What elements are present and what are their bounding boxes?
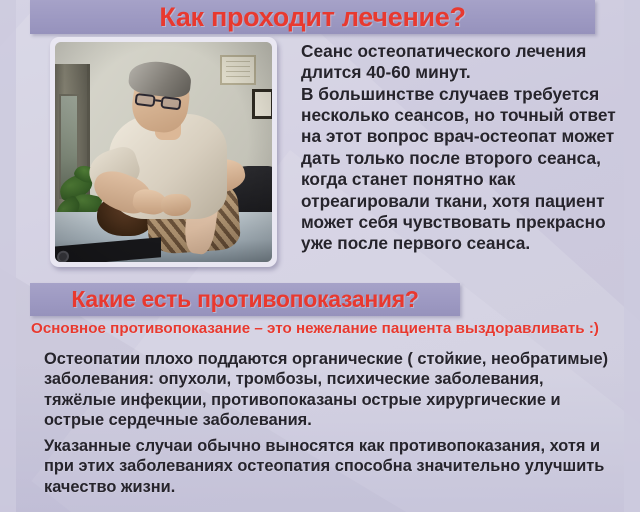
- infographic-poster: Как проходит лечение?: [0, 0, 640, 512]
- contraindications-subtitle: Основное противопоказание – это нежелани…: [31, 320, 631, 337]
- photo-vignette: [55, 42, 272, 262]
- heading-banner-contraindications: Какие есть противопоказания?: [30, 283, 460, 316]
- contraindications-paragraph-1: Остеопатии плохо поддаются органические …: [44, 349, 632, 430]
- heading-treatment-text: Как проходит лечение?: [159, 2, 465, 33]
- heading-banner-treatment: Как проходит лечение?: [30, 0, 595, 34]
- contraindications-paragraph-2: Указанные случаи обычно выносятся как пр…: [44, 436, 632, 497]
- treatment-paragraph: Сеанс остеопатического лечения длится 40…: [301, 41, 631, 255]
- background-left-edge: [0, 0, 16, 512]
- heading-contraindications-text: Какие есть противопоказания?: [71, 286, 418, 313]
- treatment-photo-frame: [50, 37, 277, 267]
- treatment-photo: [55, 42, 272, 262]
